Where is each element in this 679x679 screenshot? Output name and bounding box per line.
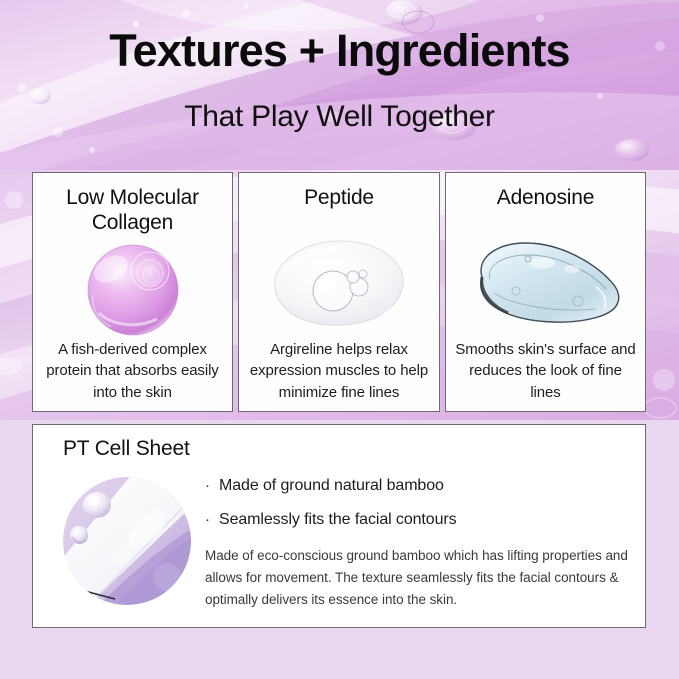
sheet-panel-body: · Made of ground natural bamboo · Seamle… <box>205 477 629 611</box>
ingredient-card-description: A fish-derived complex protein that abso… <box>39 339 226 403</box>
bullet-marker-icon: · <box>205 512 219 527</box>
bullet-text: Seamlessly fits the facial contours <box>219 511 457 529</box>
ingredient-card-adenosine[interactable]: Adenosine <box>445 172 646 412</box>
ingredient-card-description: Smooths skin's surface and reduces the l… <box>452 339 639 403</box>
list-item: · Seamlessly fits the facial contours <box>205 511 629 529</box>
bullet-marker-icon: · <box>205 478 219 493</box>
pt-cell-sheet-photo <box>63 477 191 605</box>
bullet-text: Made of ground natural bamboo <box>219 477 444 495</box>
ingredient-card-description: Argireline helps relax expression muscle… <box>245 339 433 403</box>
ingredients-infographic: Textures + Ingredients That Play Well To… <box>0 0 679 679</box>
ingredient-card-title: Adenosine <box>454 185 637 210</box>
pt-cell-sheet-panel[interactable]: PT Cell Sheet <box>32 424 646 628</box>
adenosine-gel-droplet-art <box>446 229 645 339</box>
ingredient-card-title: Peptide <box>247 185 431 210</box>
ingredient-card-peptide[interactable]: Peptide Argi <box>238 172 440 412</box>
ingredient-card-title: Low Molecular Collagen <box>41 185 224 235</box>
sheet-panel-paragraph: Made of eco-conscious ground bamboo whic… <box>205 545 629 611</box>
list-item: · Made of ground natural bamboo <box>205 477 629 495</box>
peptide-cream-blob-art <box>239 229 439 339</box>
collagen-sphere-art <box>33 235 232 345</box>
ingredient-card-collagen[interactable]: Low Molecular Collagen <box>32 172 233 412</box>
page-title: Textures + Ingredients <box>0 28 679 73</box>
page-subtitle: That Play Well Together <box>0 102 679 132</box>
hero-banner: Textures + Ingredients That Play Well To… <box>0 0 679 170</box>
sheet-panel-title: PT Cell Sheet <box>63 437 190 461</box>
